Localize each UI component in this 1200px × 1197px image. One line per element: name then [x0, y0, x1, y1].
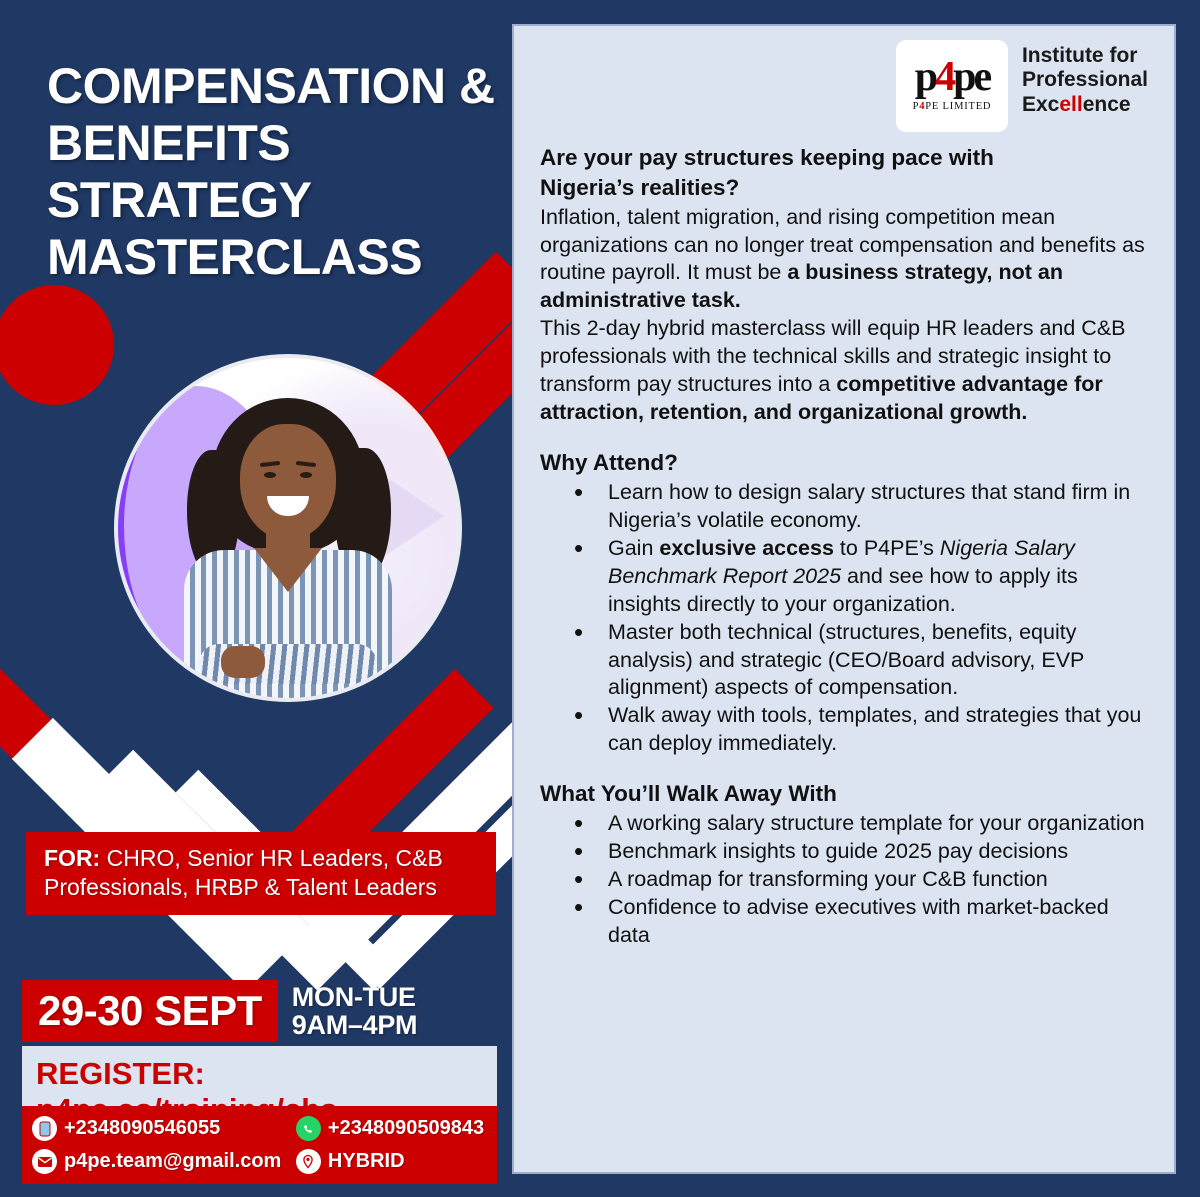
tagline-ence: ence — [1083, 93, 1131, 116]
list-item: Benchmark insights to guide 2025 pay dec… — [574, 838, 1148, 866]
eyebrow-right — [296, 461, 316, 467]
shirt-collar — [254, 548, 322, 592]
why-2-a: Master both technical (structures, benef… — [608, 620, 1084, 700]
list-item: A working salary structure template for … — [574, 810, 1148, 838]
p4pe-logo: p4pe P4PE LIMITED — [896, 40, 1008, 132]
why-attend-list: Learn how to design salary structures th… — [540, 479, 1148, 758]
contact-whatsapp[interactable]: +2348090509843 — [296, 1116, 487, 1141]
event-time-block: MON-TUE 9AM–4PM — [278, 980, 417, 1042]
logo-4: 4 — [935, 54, 953, 100]
takeaway-heading: What You’ll Walk Away With — [540, 780, 1148, 809]
why-3-a: Walk away with tools, templates, and str… — [608, 703, 1141, 755]
spacer — [540, 758, 1148, 780]
phone-number: +2348090546055 — [64, 1117, 220, 1140]
phone-icon — [32, 1116, 57, 1141]
location-text: HYBRID — [328, 1150, 405, 1173]
content-panel: p4pe P4PE LIMITED Institute for Professi… — [512, 24, 1176, 1174]
brand-tagline: Institute for Professional Excellence — [1022, 40, 1148, 117]
eyebrow-left — [260, 461, 280, 467]
logo-sub-post: PE LIMITED — [925, 101, 991, 112]
tagline-line-3: Excellence — [1022, 93, 1148, 117]
register-label: REGISTER: — [36, 1056, 205, 1091]
hand — [221, 646, 265, 678]
email-address: p4pe.team@gmail.com — [64, 1150, 281, 1173]
logo-subtext: P4PE LIMITED — [913, 100, 992, 114]
whatsapp-number: +2348090509843 — [328, 1117, 484, 1140]
speaker-portrait — [118, 358, 458, 698]
intro-paragraph-1: Inflation, talent migration, and rising … — [540, 204, 1148, 316]
why-1-b: exclusive access — [659, 536, 834, 560]
location-pin-icon — [296, 1149, 321, 1174]
hook-line-1: Are your pay structures keeping pace wit… — [540, 144, 1148, 173]
audience-banner: FOR: CHRO, Senior HR Leaders, C&B Profes… — [26, 832, 496, 915]
event-date: 29-30 SEPT — [22, 980, 278, 1042]
person-illustration — [173, 398, 403, 698]
whatsapp-icon — [296, 1116, 321, 1141]
email-icon — [32, 1149, 57, 1174]
date-time-row: 29-30 SEPT MON-TUE 9AM–4PM — [22, 980, 497, 1042]
tagline-line-2: Professional — [1022, 68, 1148, 92]
list-item: Confidence to advise executives with mar… — [574, 894, 1148, 950]
face — [240, 424, 336, 540]
list-item: Master both technical (structures, benef… — [574, 619, 1148, 703]
contact-email[interactable]: p4pe.team@gmail.com — [32, 1149, 296, 1174]
contact-location: HYBRID — [296, 1149, 487, 1174]
list-item: Gain exclusive access to P4PE’s Nigeria … — [574, 535, 1148, 619]
smile — [267, 496, 309, 516]
tagline-line-1: Institute for — [1022, 44, 1148, 68]
eye-left — [264, 472, 276, 478]
brand-header: p4pe P4PE LIMITED Institute for Professi… — [540, 40, 1148, 144]
logo-p: p — [915, 54, 935, 100]
eye-right — [300, 472, 312, 478]
why-0-a: Learn how to design salary structures th… — [608, 480, 1130, 532]
audience-label: FOR: — [44, 845, 100, 871]
red-circle-decoration — [0, 285, 114, 405]
tagline-exc: Exc — [1022, 93, 1059, 116]
tagline-ell: ell — [1059, 93, 1082, 116]
contact-phone[interactable]: +2348090546055 — [32, 1116, 296, 1141]
list-item: A roadmap for transforming your C&B func… — [574, 866, 1148, 894]
why-attend-heading: Why Attend? — [540, 449, 1148, 478]
audience-text: CHRO, Senior HR Leaders, C&B Professiona… — [44, 845, 443, 900]
event-days: MON-TUE — [292, 983, 417, 1011]
flyer-root: COMPENSATION & BENEFITS STRATEGY MASTERC… — [0, 0, 1200, 1197]
takeaway-list: A working salary structure template for … — [540, 810, 1148, 950]
intro-paragraph-2: This 2-day hybrid masterclass will equip… — [540, 315, 1148, 427]
hook-line-2: Nigeria’s realities? — [540, 174, 1148, 203]
list-item: Learn how to design salary structures th… — [574, 479, 1148, 535]
why-1-c: to P4PE’s — [834, 536, 940, 560]
list-item: Walk away with tools, templates, and str… — [574, 702, 1148, 758]
spacer — [540, 427, 1148, 449]
contact-strip: +2348090546055 +2348090509843 p4pe.team@… — [22, 1106, 497, 1184]
logo-pe: pe — [953, 54, 989, 100]
why-1-a: Gain — [608, 536, 659, 560]
logo-wordmark: p4pe — [915, 59, 989, 97]
page-title: COMPENSATION & BENEFITS STRATEGY MASTERC… — [47, 58, 502, 286]
event-hours: 9AM–4PM — [292, 1011, 417, 1039]
left-column: COMPENSATION & BENEFITS STRATEGY MASTERC… — [0, 0, 512, 1197]
